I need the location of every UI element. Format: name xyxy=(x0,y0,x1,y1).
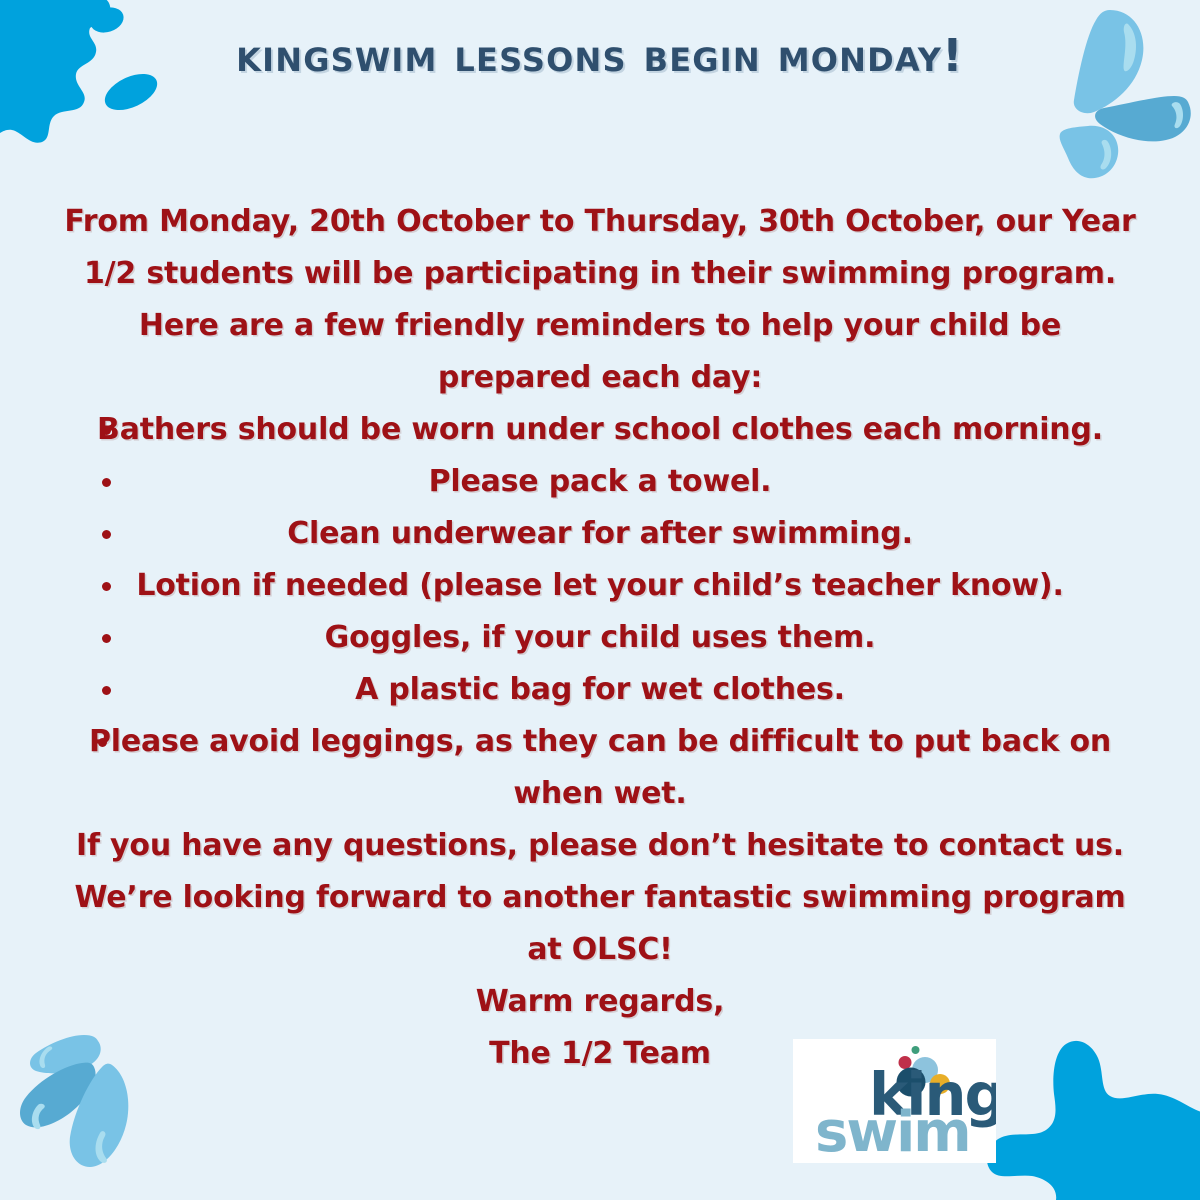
bullet-dot-icon xyxy=(98,738,107,747)
bullet-dot-icon xyxy=(102,426,111,435)
list-item-label: Bathers should be worn under school clot… xyxy=(58,404,1142,456)
list-item-label: Goggles, if your child uses them. xyxy=(58,612,1142,664)
list-item-label: Clean underwear for after swimming. xyxy=(58,508,1142,560)
bullet-dot-icon xyxy=(102,478,111,487)
poster-canvas: Kingswim Lessons Begin Monday! From Mond… xyxy=(0,0,1200,1200)
list-item: Lotion if needed (please let your child’… xyxy=(58,560,1142,612)
kingswim-logo: king swim xyxy=(793,1039,996,1163)
reminders-lead-paragraph: Here are a few friendly reminders to hel… xyxy=(58,300,1142,404)
intro-paragraph: From Monday, 20th October to Thursday, 3… xyxy=(58,196,1142,300)
sign-off-line: Warm regards, xyxy=(58,976,1142,1028)
bullet-dot-icon xyxy=(102,634,111,643)
list-item-label: Please pack a towel. xyxy=(58,456,1142,508)
list-item: Goggles, if your child uses them. xyxy=(58,612,1142,664)
list-item-label: Please avoid leggings, as they can be di… xyxy=(58,716,1142,820)
announcement-body: From Monday, 20th October to Thursday, 3… xyxy=(58,196,1142,1080)
reminders-list: Bathers should be worn under school clot… xyxy=(58,404,1142,820)
logo-word-swim: swim xyxy=(815,1100,970,1163)
list-item: A plastic bag for wet clothes. xyxy=(58,664,1142,716)
bullet-dot-icon xyxy=(102,686,111,695)
list-item: Please avoid leggings, as they can be di… xyxy=(58,716,1142,820)
list-item-label: A plastic bag for wet clothes. xyxy=(58,664,1142,716)
closing-paragraph: If you have any questions, please don’t … xyxy=(58,820,1142,976)
list-item: Bathers should be worn under school clot… xyxy=(58,404,1142,456)
list-item-label: Lotion if needed (please let your child’… xyxy=(58,560,1142,612)
page-title: Kingswim Lessons Begin Monday! xyxy=(0,26,1200,85)
bullet-dot-icon xyxy=(102,530,111,539)
list-item: Clean underwear for after swimming. xyxy=(58,508,1142,560)
logo-bubble-green-icon xyxy=(912,1046,920,1054)
bullet-dot-icon xyxy=(102,582,111,591)
list-item: Please pack a towel. xyxy=(58,456,1142,508)
